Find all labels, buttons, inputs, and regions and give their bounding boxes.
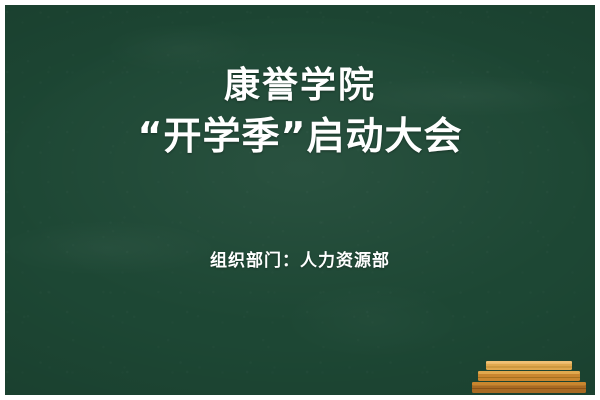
presentation-slide: 康誉学院 “开学季”启动大会 组织部门：人力资源部 (0, 0, 600, 400)
slide-content: 康誉学院 “开学季”启动大会 组织部门：人力资源部 (0, 0, 600, 400)
title-line-1: 康誉学院 (0, 62, 600, 110)
title-line-2: “开学季”启动大会 (0, 110, 600, 162)
organizing-department-text: 组织部门：人力资源部 (0, 246, 600, 271)
title-block: 康誉学院 “开学季”启动大会 (0, 62, 600, 162)
books-stack-icon (470, 349, 588, 395)
subtitle-block: 组织部门：人力资源部 (0, 246, 600, 271)
